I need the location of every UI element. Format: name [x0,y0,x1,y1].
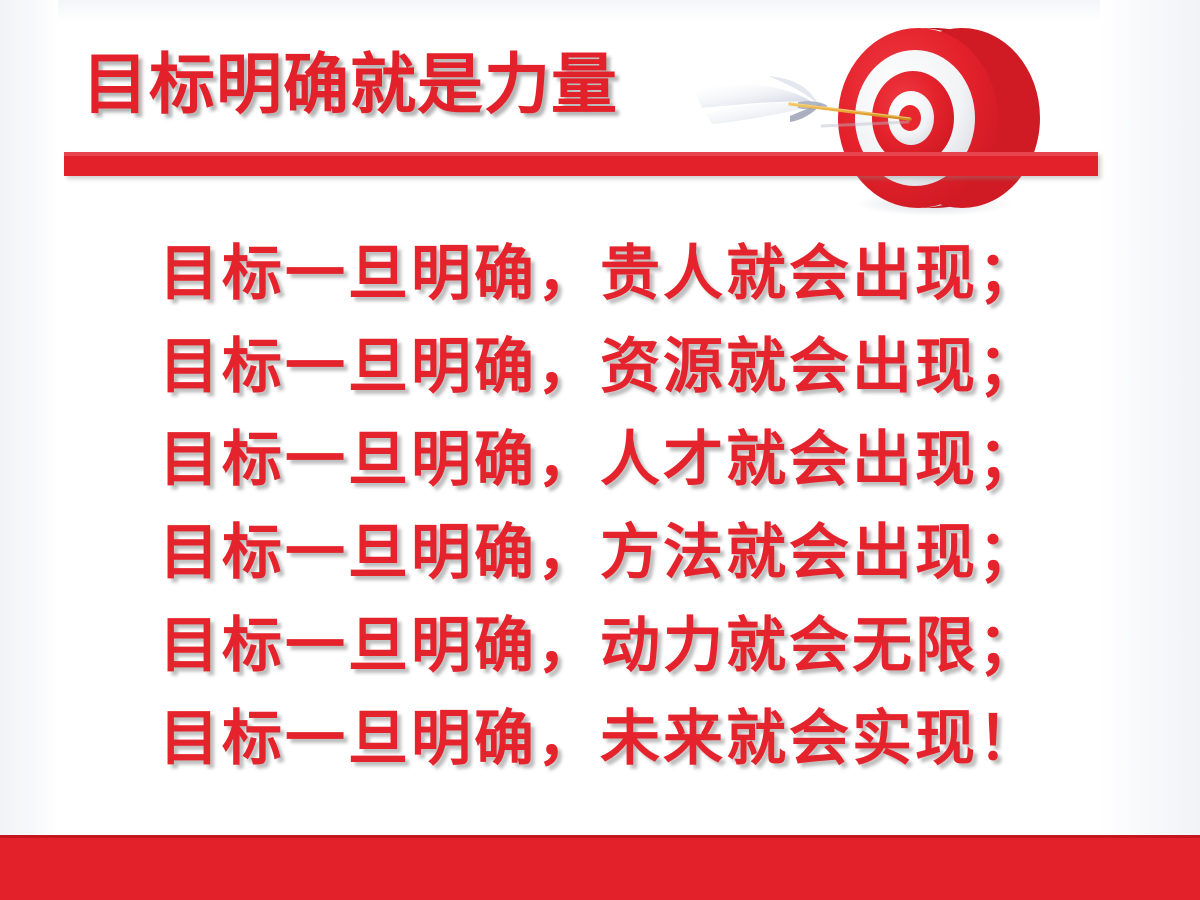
poster-header: 目标明确就是力量 [0,0,1200,200]
slogan-line: 目标一旦明确，人才就会出现； [0,414,1200,507]
header-divider-bar [64,152,1098,176]
slogan-line: 目标一旦明确，未来就会实现！ [0,693,1200,786]
slogan-list: 目标一旦明确，贵人就会出现； 目标一旦明确，资源就会出现； 目标一旦明确，人才就… [0,228,1200,786]
bullseye-target-icon [672,18,1072,218]
slogan-line: 目标一旦明确，动力就会无限； [0,600,1200,693]
slogan-line: 目标一旦明确，贵人就会出现； [0,228,1200,321]
footer-bar [0,835,1200,900]
page-title: 目标明确就是力量 [82,52,618,118]
slogan-line: 目标一旦明确，方法就会出现； [0,507,1200,600]
slogan-line: 目标一旦明确，资源就会出现； [0,321,1200,414]
poster-slide: 目标明确就是力量 [0,0,1200,900]
arrow-fletching-icon [694,76,828,124]
target-graphic [672,18,1072,218]
